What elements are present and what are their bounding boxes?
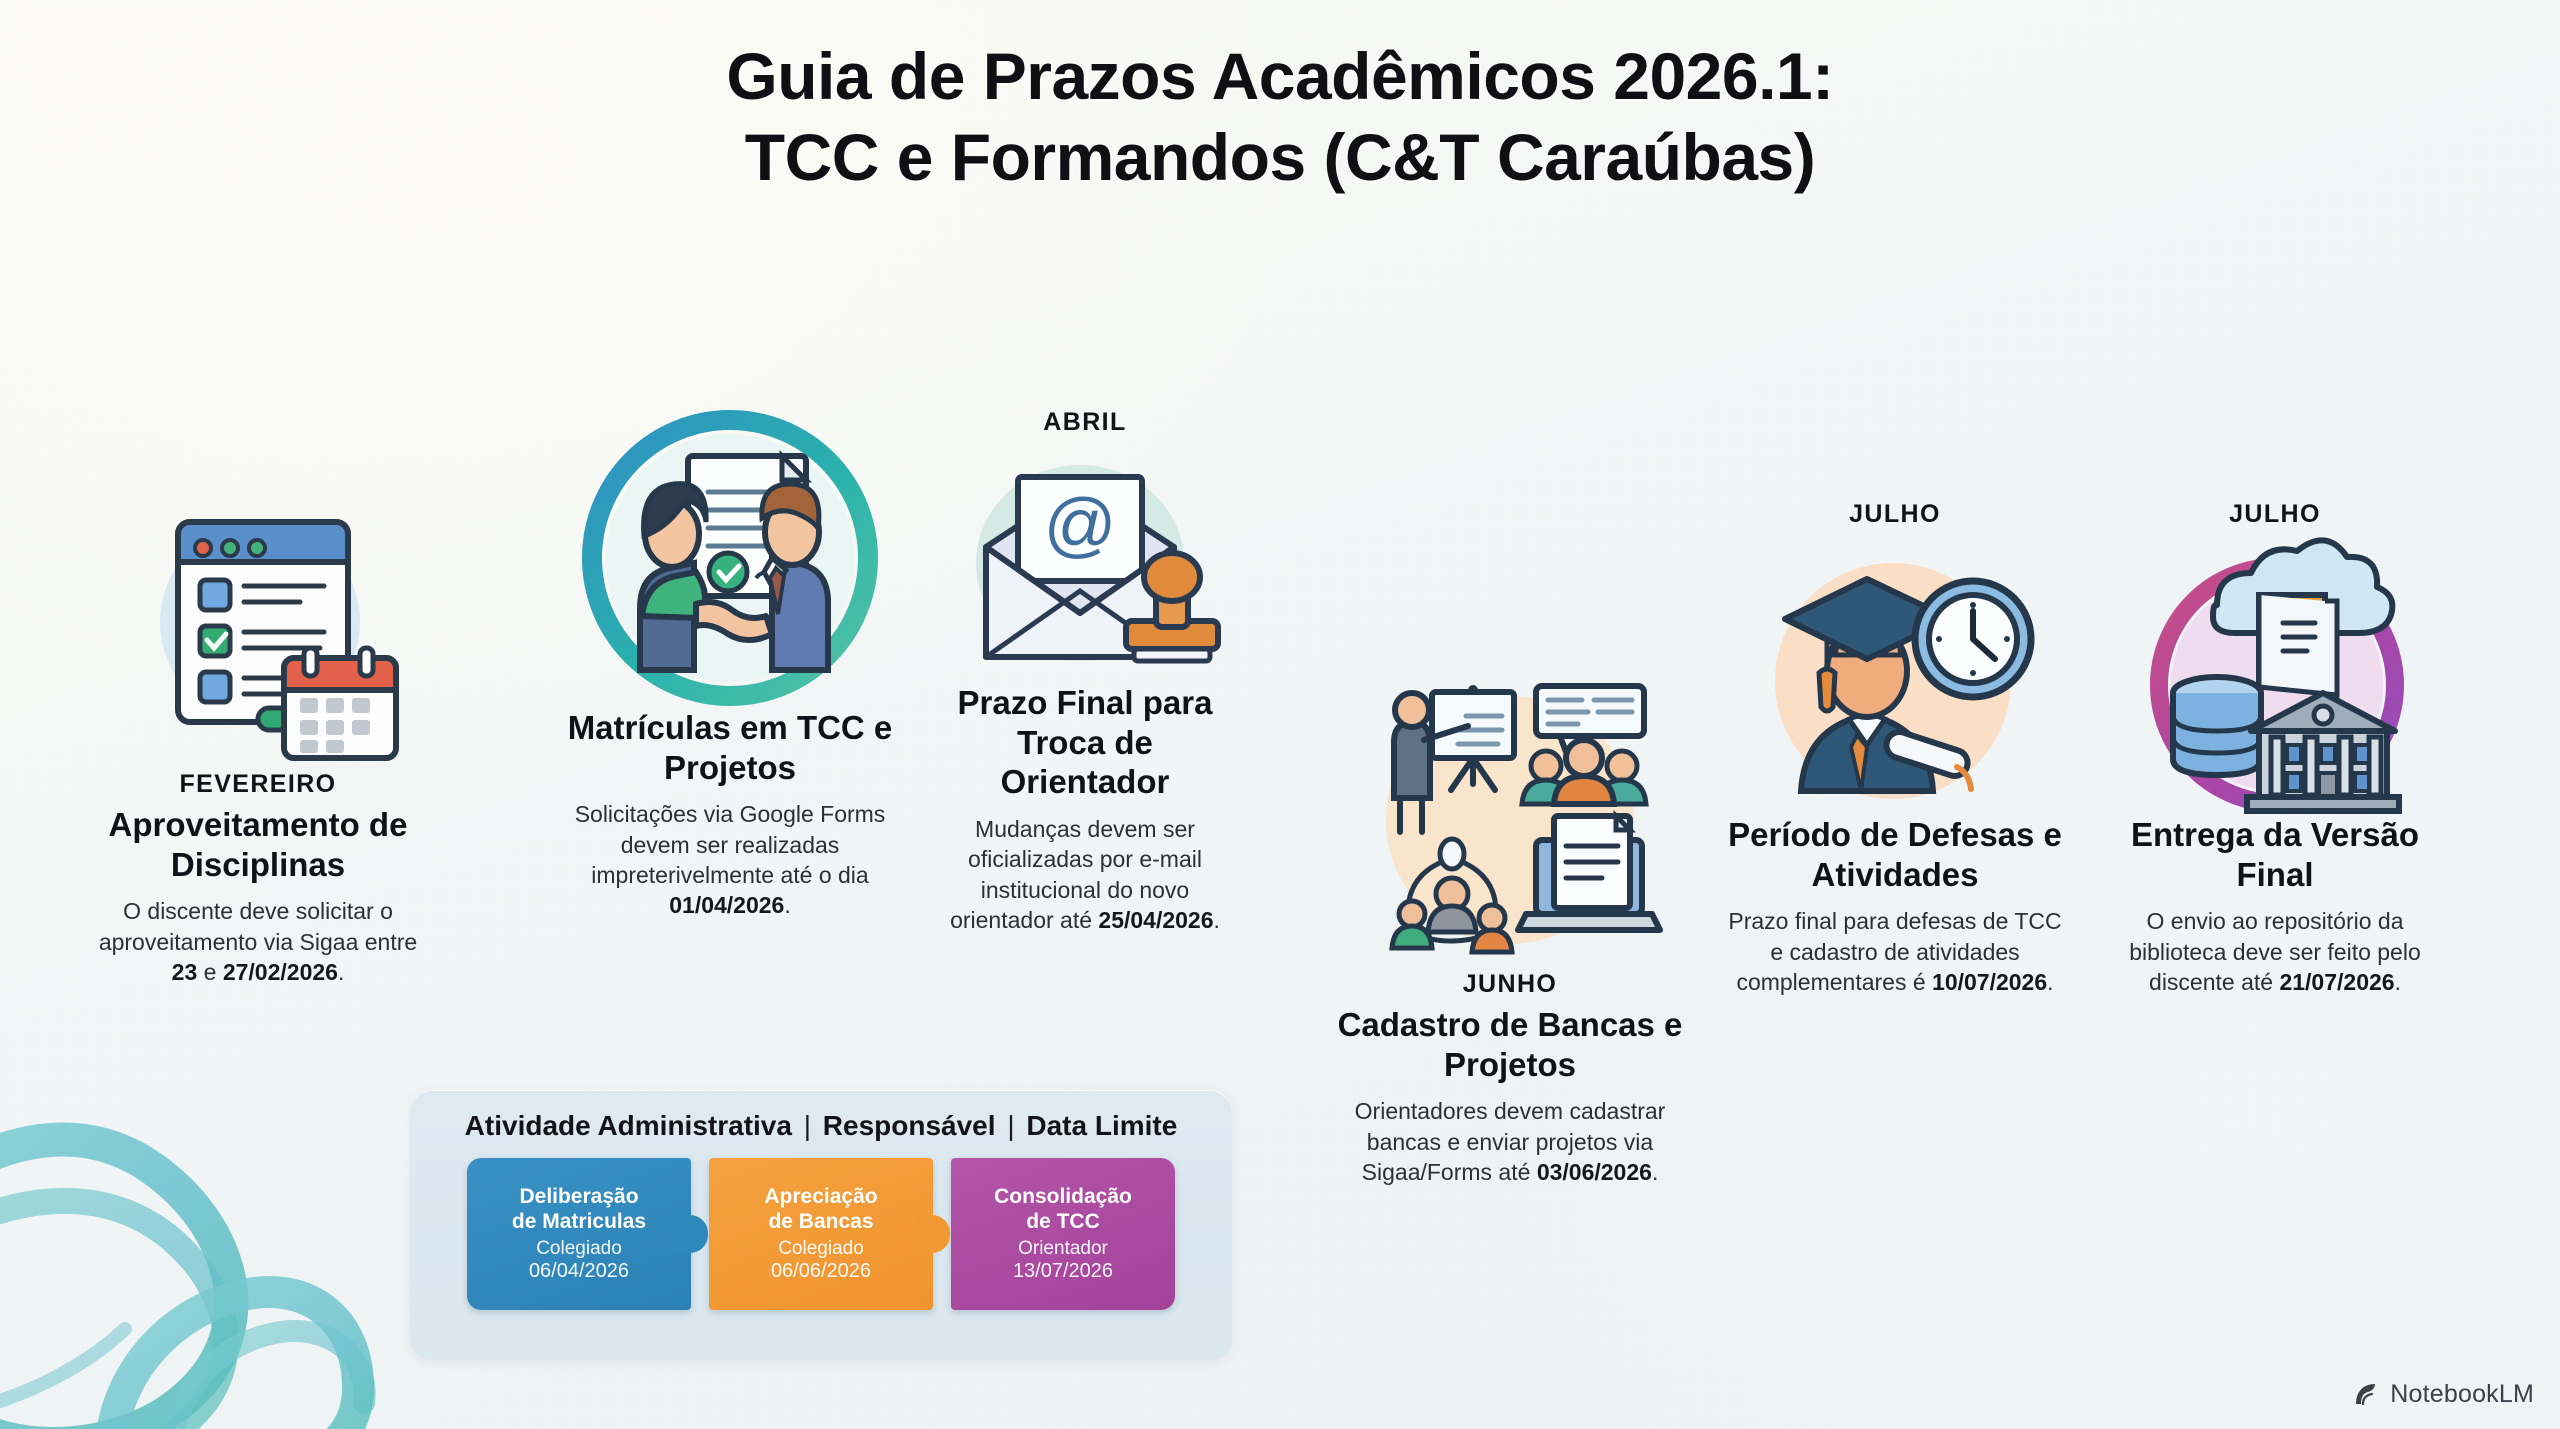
- admin-deadline: 06/04/2026: [467, 1260, 691, 1283]
- admin-col-deadline: Data Limite: [1026, 1110, 1177, 1141]
- milestone-matriculas: Matrículas em TCC e Projetos Solicitaçõe…: [540, 408, 920, 921]
- milestone-heading: Prazo Final para Troca de Orientador: [930, 683, 1240, 802]
- admin-puzzle-card[interactable]: Deliberaşãode Matriculas Colegiado 06/04…: [467, 1158, 691, 1310]
- page-title: Guia de Prazos Acadêmicos 2026.1: TCC e …: [0, 36, 2560, 197]
- checklist-calendar-icon: [88, 470, 428, 770]
- milestone-month-label: JULHO: [1720, 500, 2070, 529]
- milestone-month-label: ABRIL: [930, 408, 1240, 437]
- title-line-1: Guia de Prazos Acadêmicos 2026.1:: [0, 36, 2560, 117]
- milestone-month-label: JULHO: [2100, 500, 2450, 529]
- milestone-junho: JUNHO Cadastro de Bancas e Projetos Orie…: [1330, 670, 1690, 1187]
- milestone-julho-entrega: JULHO: [2100, 500, 2450, 997]
- admin-responsible: Colegiado: [709, 1238, 933, 1260]
- admin-deadline: 06/06/2026: [709, 1260, 933, 1283]
- admin-header-separator-2: |: [1003, 1110, 1018, 1141]
- handshake-agreement-icon: [540, 408, 920, 708]
- milestone-abril: ABRIL @ Prazo Final para Troca de Orient…: [930, 408, 1240, 935]
- milestone-julho-defesas: JULHO Período de Defesas e Atividades: [1720, 500, 2070, 997]
- admin-puzzle-card[interactable]: Consolidaçãode TCC Orientador 13/07/2026: [951, 1158, 1175, 1310]
- puzzle-knob-icon: [674, 1215, 708, 1253]
- title-line-2: TCC e Formandos (C&T Caraúbas): [0, 117, 2560, 198]
- svg-text:@: @: [1043, 485, 1116, 565]
- milestone-heading: Cadastro de Bancas e Projetos: [1330, 1005, 1690, 1084]
- milestone-month-label: FEVEREIRO: [88, 770, 428, 799]
- admin-deadline: 13/07/2026: [951, 1260, 1175, 1283]
- milestone-description: Prazo final para defesas de TCC e cadast…: [1720, 906, 2070, 997]
- milestone-heading: Aproveitamento de Disciplinas: [88, 805, 428, 884]
- email-stamp-icon: @: [930, 443, 1240, 683]
- milestone-heading: Matrículas em TCC e Projetos: [540, 708, 920, 787]
- admin-col-activity: Atividade Administrativa: [465, 1110, 792, 1141]
- puzzle-knob-icon: [916, 1215, 950, 1253]
- presentation-team-icon: [1330, 670, 1690, 970]
- graduate-clock-icon: [1720, 535, 2070, 815]
- milestone-description: Mudanças devem ser oficializadas por e-m…: [930, 814, 1240, 935]
- library-cloud-repository-icon: [2100, 535, 2450, 815]
- milestone-month-label: JUNHO: [1330, 970, 1690, 999]
- milestone-description: O discente deve solicitar o aproveitamen…: [88, 896, 428, 987]
- admin-activities-panel: Atividade Administrativa | Responsável |…: [410, 1090, 1232, 1360]
- admin-activity-name: Deliberaşãode Matriculas: [467, 1185, 691, 1234]
- milestone-description: Solicitações via Google Forms devem ser …: [540, 799, 920, 920]
- admin-header-separator-1: |: [800, 1110, 815, 1141]
- milestone-heading: Entrega da Versão Final: [2100, 815, 2450, 894]
- admin-puzzle-row: Deliberaşãode Matriculas Colegiado 06/04…: [436, 1158, 1206, 1310]
- admin-responsible: Colegiado: [467, 1238, 691, 1260]
- milestone-heading: Período de Defesas e Atividades: [1720, 815, 2070, 894]
- admin-panel-header: Atividade Administrativa | Responsável |…: [436, 1110, 1206, 1142]
- milestone-description: O envio ao repositório da biblioteca dev…: [2100, 906, 2450, 997]
- admin-activity-name: Apreciaçãode Bancas: [709, 1185, 933, 1234]
- watermark-label: NotebookLM: [2390, 1380, 2534, 1409]
- admin-activity-name: Consolidaçãode TCC: [951, 1185, 1175, 1234]
- admin-col-responsible: Responsável: [823, 1110, 996, 1141]
- admin-puzzle-card[interactable]: Apreciaçãode Bancas Colegiado 06/06/2026: [709, 1158, 933, 1310]
- notebooklm-watermark: NotebookLM: [2351, 1379, 2534, 1409]
- notebooklm-spiral-icon: [2351, 1379, 2381, 1409]
- milestone-description: Orientadores devem cadastrar bancas e en…: [1330, 1096, 1690, 1187]
- milestone-fevereiro: FEVEREIRO Aproveitamento de Disciplinas …: [88, 470, 428, 987]
- admin-responsible: Orientador: [951, 1238, 1175, 1260]
